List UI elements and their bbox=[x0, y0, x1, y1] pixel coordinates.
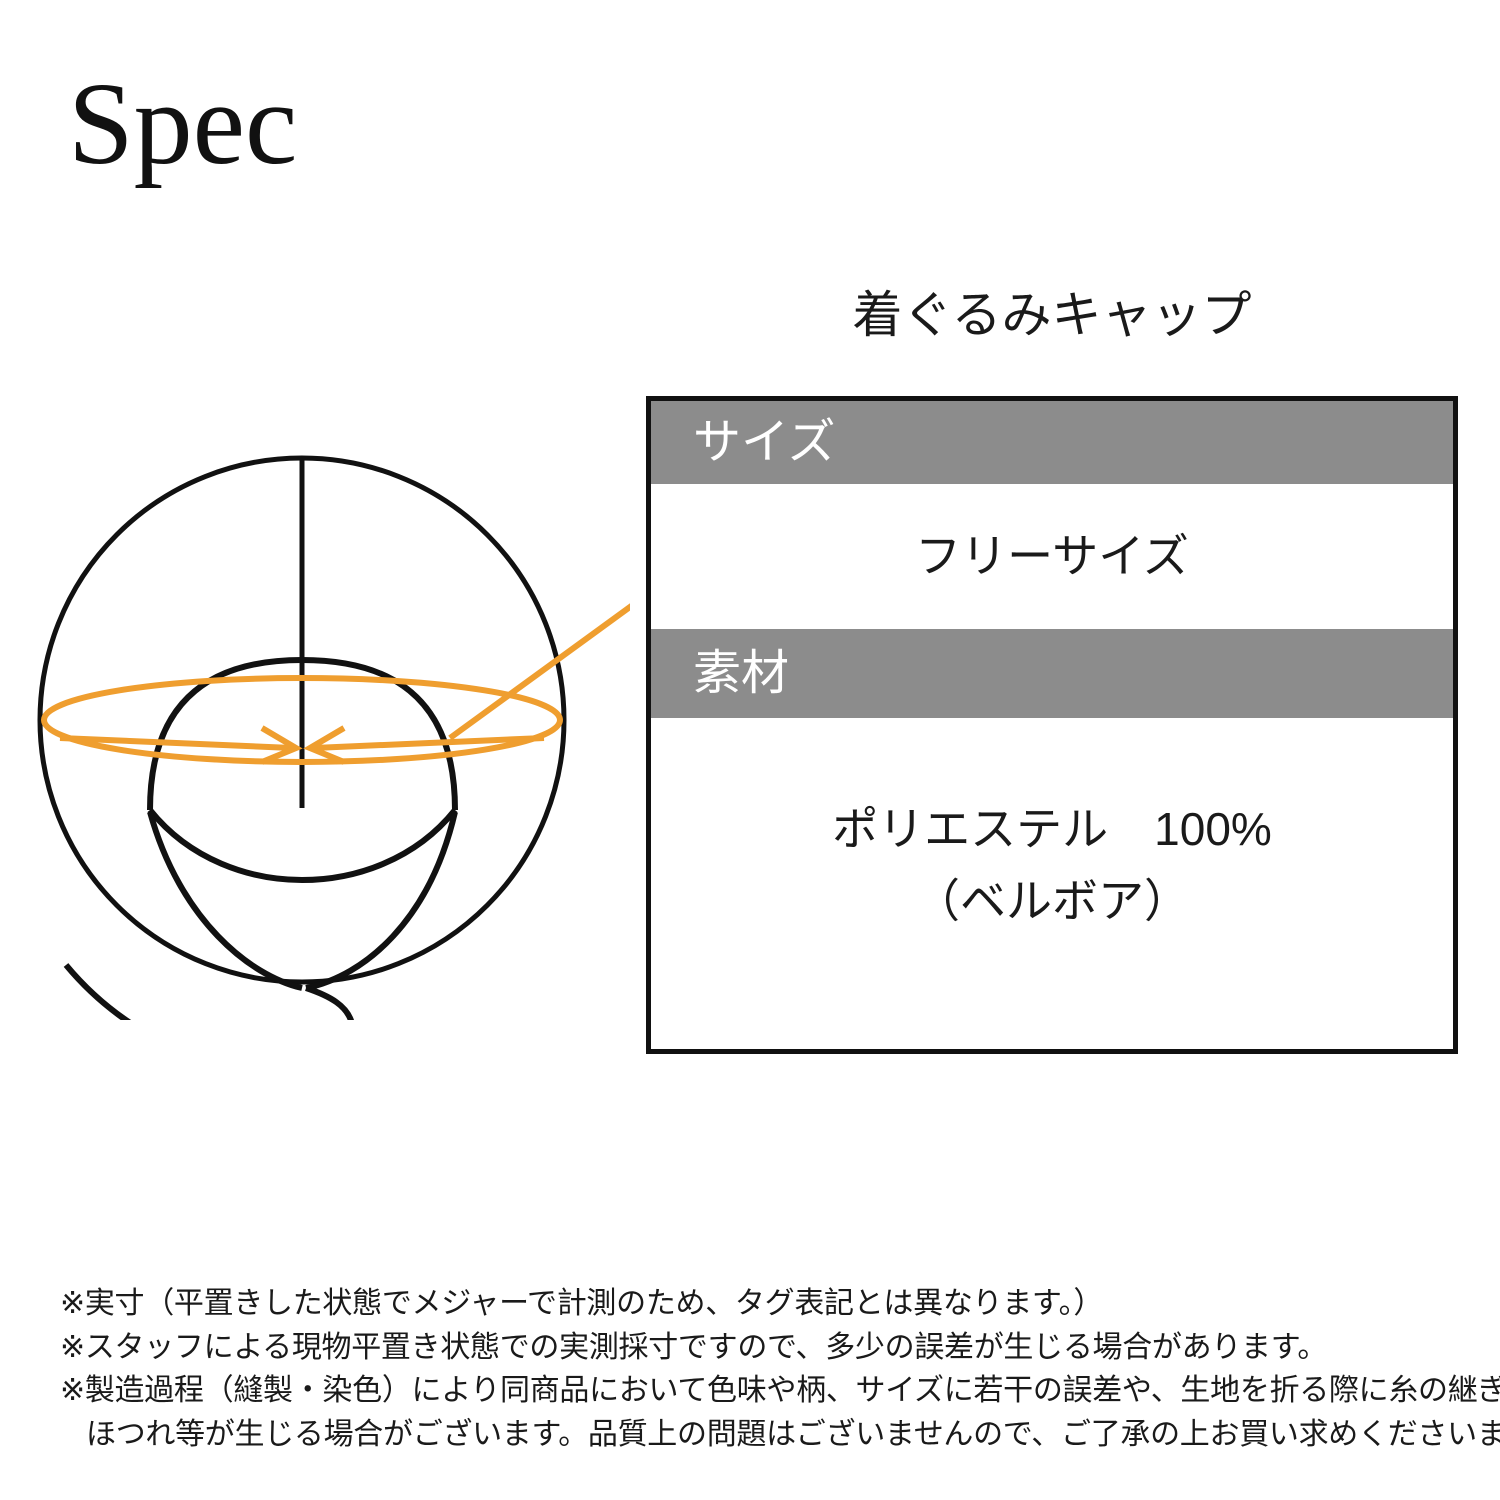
footnotes: ※実寸（平置きした状態でメジャーで計測のため、タグ表記とは異なります。） ※スタ… bbox=[60, 1282, 1460, 1456]
spec-value-material: ポリエステル 100% （ベルボア） bbox=[651, 718, 1453, 1049]
spec-value-size: フリーサイズ bbox=[651, 484, 1453, 629]
spec-page: Spec bbox=[0, 0, 1500, 1500]
wrap-band-inner bbox=[306, 988, 352, 1020]
wrap-band-outer bbox=[66, 965, 352, 1020]
inner-pouch-right bbox=[306, 812, 455, 988]
spec-value-size-line-1: フリーサイズ bbox=[915, 521, 1189, 592]
page-title: Spec bbox=[68, 62, 297, 186]
spec-header-size: サイズ bbox=[651, 401, 1453, 484]
footnote-line-2: ※スタッフによる現物平置き状態での実測採寸ですので、多少の誤差が生じる場合があり… bbox=[60, 1326, 1460, 1370]
footnote-line-1: ※実寸（平置きした状態でメジャーで計測のため、タグ表記とは異なります。） bbox=[60, 1282, 1460, 1326]
cap-diagram-svg bbox=[30, 420, 630, 1020]
spec-table: サイズ フリーサイズ 素材 ポリエステル 100% （ベルボア） bbox=[646, 396, 1458, 1054]
leader-line bbox=[450, 572, 630, 738]
spec-header-material: 素材 bbox=[651, 629, 1453, 718]
inner-pouch-left bbox=[150, 812, 302, 988]
spec-header-size-label: サイズ bbox=[693, 419, 836, 467]
product-name: 着ぐるみキャップ bbox=[646, 285, 1458, 345]
face-opening-lower-curve bbox=[150, 810, 455, 880]
footnote-line-3: ※製造過程（縫製・染色）により同商品において色味や柄、サイズに若干の誤差や、生地… bbox=[60, 1369, 1460, 1413]
cap-illustration bbox=[30, 420, 630, 1020]
spec-value-material-line-1: ポリエステル 100% bbox=[832, 794, 1272, 865]
spec-value-material-line-2: （ベルボア） bbox=[832, 866, 1272, 937]
footnote-line-4: ほつれ等が生じる場合がございます。品質上の問題はございませんので、ご了承の上お買… bbox=[60, 1413, 1460, 1457]
spec-header-material-label: 素材 bbox=[693, 650, 789, 698]
